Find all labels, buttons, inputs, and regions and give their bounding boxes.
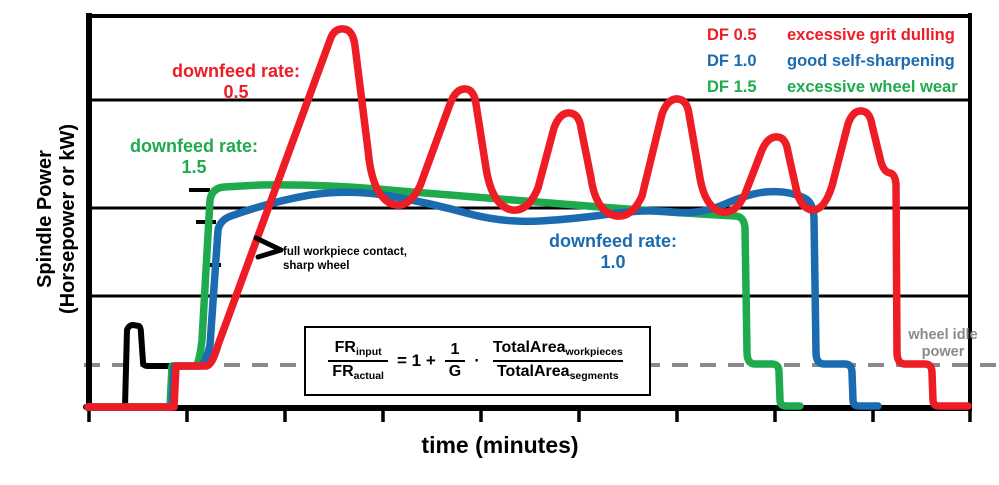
y-axis-label-line1: Spindle Power (34, 150, 56, 288)
formula-fraction-fr: FRinput FRactual (328, 339, 388, 382)
wheel-idle-power-label: wheel idle power (895, 327, 991, 360)
formula-totalarea-segments: TotalAreasegments (493, 360, 623, 383)
x-axis-label: time (minutes) (280, 432, 720, 459)
formula-fr-actual: FRactual (328, 360, 388, 383)
legend-key-df-1-0: DF 1.0 (707, 52, 757, 71)
curve-label-df-1-0-line2: 1.0 (600, 252, 625, 272)
curve-label-df-1-5: downfeed rate: 1.5 (104, 136, 284, 178)
formula-dot-operator: · (474, 351, 480, 371)
curve-label-df-1-5-line1: downfeed rate: (130, 136, 258, 156)
idle-label-line1: wheel idle (908, 327, 977, 343)
formula-g: G (445, 360, 465, 381)
formula-fr-input: FRinput (331, 339, 386, 360)
formula-equals-one-plus: = 1 + (397, 351, 436, 371)
annotation-full-workpiece-contact: full workpiece contact, sharp wheel (283, 245, 407, 273)
curve-label-df-1-5-line2: 1.5 (181, 157, 206, 177)
curve-label-df-0-5-line2: 0.5 (223, 82, 248, 102)
annotation-line1: full workpiece contact, (283, 246, 407, 258)
idle-label-line2: power (922, 344, 965, 360)
y-axis-label-line2: (Horsepower or kW) (57, 124, 79, 314)
formula-totalarea-workpieces: TotalAreaworkpieces (489, 339, 627, 360)
y-axis-label: Spindle Power (Horsepower or kW) (34, 74, 80, 364)
legend-key-df-1-5: DF 1.5 (707, 78, 757, 97)
chart-figure: Spindle Power (Horsepower or kW) time (m… (0, 0, 999, 485)
formula-one: 1 (447, 341, 464, 360)
curve-label-df-1-0-line1: downfeed rate: (549, 231, 677, 251)
formula-fraction-totalarea: TotalAreaworkpieces TotalAreasegments (489, 339, 627, 382)
legend-desc-df-0-5: excessive grit dulling (787, 26, 955, 45)
formula-box: FRinput FRactual = 1 + 1 G · TotalAreawo… (304, 326, 651, 396)
curve-label-df-0-5-line1: downfeed rate: (172, 61, 300, 81)
curve-label-df-0-5: downfeed rate: 0.5 (146, 61, 326, 103)
curve-label-df-1-0: downfeed rate: 1.0 (523, 231, 703, 273)
legend-key-df-0-5: DF 0.5 (707, 26, 757, 45)
annotation-line2: sharp wheel (283, 260, 349, 272)
formula-fraction-one-over-g: 1 G (445, 341, 465, 381)
legend-desc-df-1-5: excessive wheel wear (787, 78, 958, 97)
legend-desc-df-1-0: good self-sharpening (787, 52, 955, 71)
